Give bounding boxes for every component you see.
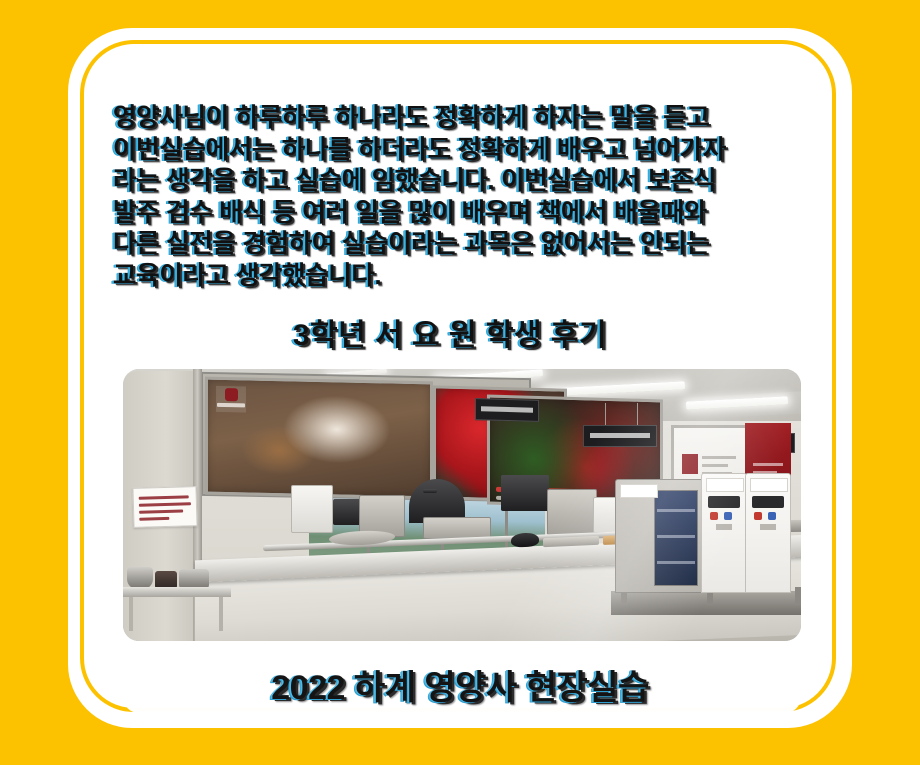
hot-water-button[interactable]	[710, 512, 718, 520]
hanging-sign	[583, 425, 657, 447]
logo-mark-icon	[225, 388, 238, 401]
poster-root: 영양사님이 하루하루 하나라도 정확하게 하자는 말을 듣고 이번실습에서는 하…	[0, 0, 920, 765]
serving-counter-sign	[475, 398, 539, 422]
kitchen-trolley	[123, 565, 231, 633]
cafeteria-photo	[123, 369, 801, 641]
trolley-shelf	[123, 587, 231, 597]
control-panel	[708, 496, 740, 508]
logo-text	[217, 403, 245, 408]
cooking-pot	[127, 567, 153, 589]
food-pot	[511, 532, 539, 547]
notice-paper-line	[139, 509, 183, 513]
kitchen-handle	[423, 489, 437, 493]
water-purifier-left	[701, 473, 747, 593]
cup-sterilizer	[615, 479, 703, 593]
control-panel	[752, 496, 784, 508]
kitchen-oven	[501, 475, 549, 511]
student-signature-line: 3학년 서 요 원 학생 후기	[0, 310, 920, 354]
trolley-leg	[219, 597, 223, 631]
kitchen-fridge	[291, 485, 333, 533]
machine-label	[706, 478, 744, 492]
sterilizer-shelf	[657, 561, 695, 564]
equipment-platform	[611, 591, 801, 615]
cooking-pot	[179, 569, 209, 589]
notice-paper	[132, 486, 197, 528]
water-tap	[760, 524, 776, 530]
sterilizer-shelf	[657, 535, 695, 538]
water-tap	[716, 524, 732, 530]
sign-wire	[605, 403, 606, 425]
machine-label	[620, 484, 658, 498]
cold-water-button[interactable]	[724, 512, 732, 520]
sterilizer-shelf	[657, 509, 695, 512]
hot-water-button[interactable]	[754, 512, 762, 520]
notice-paper-line	[139, 517, 169, 521]
bottom-caption: 2022 하계 영양사 현장실습	[0, 660, 920, 709]
trolley-leg	[129, 597, 133, 631]
platform-leg	[795, 587, 801, 605]
sign-wire	[637, 403, 638, 425]
sign-text-glyph	[590, 433, 650, 437]
sterilizer-glass-door	[654, 490, 698, 586]
machine-label	[750, 478, 788, 492]
notice-line	[702, 464, 728, 467]
kitchen-tray-rack	[423, 517, 491, 539]
panel-text-line	[753, 463, 783, 466]
notice-line	[702, 456, 736, 459]
banner-mushrooms	[205, 377, 433, 500]
notice-paper-line	[139, 502, 191, 506]
notice-paper-line	[139, 495, 189, 499]
cold-water-button[interactable]	[768, 512, 776, 520]
sign-text-glyph	[481, 406, 533, 412]
banner-logo	[216, 386, 246, 413]
school-logo-icon	[682, 454, 698, 474]
student-review-text: 영양사님이 하루하루 하나라도 정확하게 하자는 말을 듣고 이번실습에서는 하…	[113, 103, 813, 292]
kitchen-warmer	[547, 489, 597, 535]
water-purifier-right	[745, 473, 791, 593]
photo-scene	[123, 369, 801, 641]
